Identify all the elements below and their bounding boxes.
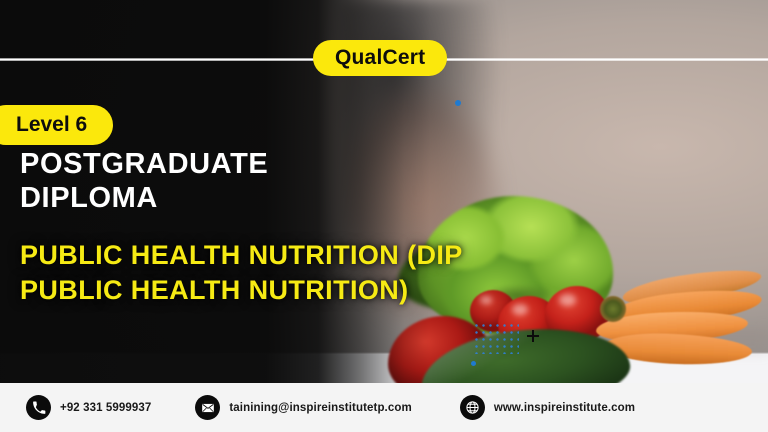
blue-dot-grid-accent (473, 322, 519, 354)
phone-icon (26, 395, 51, 420)
phone-number: +92 331 5999937 (60, 402, 151, 414)
contact-phone[interactable]: +92 331 5999937 (26, 395, 151, 420)
carrot-top-icon (600, 296, 626, 322)
blue-dot-accent (471, 361, 476, 366)
title-line-1: Postgraduate (20, 148, 420, 182)
blue-dot-accent (455, 100, 461, 106)
envelope-icon (195, 395, 220, 420)
globe-icon (460, 395, 485, 420)
qualification-subject: PUBLIC HEALTH NUTRITION (DIP PUBLIC HEAL… (20, 238, 490, 308)
title-line-2: Diploma (20, 182, 420, 216)
certificate-promo-banner: QualCert Level 6 Postgraduate Diploma PU… (0, 0, 768, 432)
website-url: www.inspireinstitute.com (494, 402, 635, 414)
qualification-title: Postgraduate Diploma (20, 148, 420, 216)
contact-footer: +92 331 5999937 tainining@inspireinstitu… (0, 383, 768, 432)
brand-badge: QualCert (313, 40, 447, 76)
contact-email[interactable]: tainining@inspireinstitutetp.com (195, 395, 411, 420)
plus-mark-accent (527, 330, 539, 342)
email-address: tainining@inspireinstitutetp.com (229, 402, 411, 414)
level-badge: Level 6 (0, 105, 113, 145)
contact-website[interactable]: www.inspireinstitute.com (460, 395, 635, 420)
